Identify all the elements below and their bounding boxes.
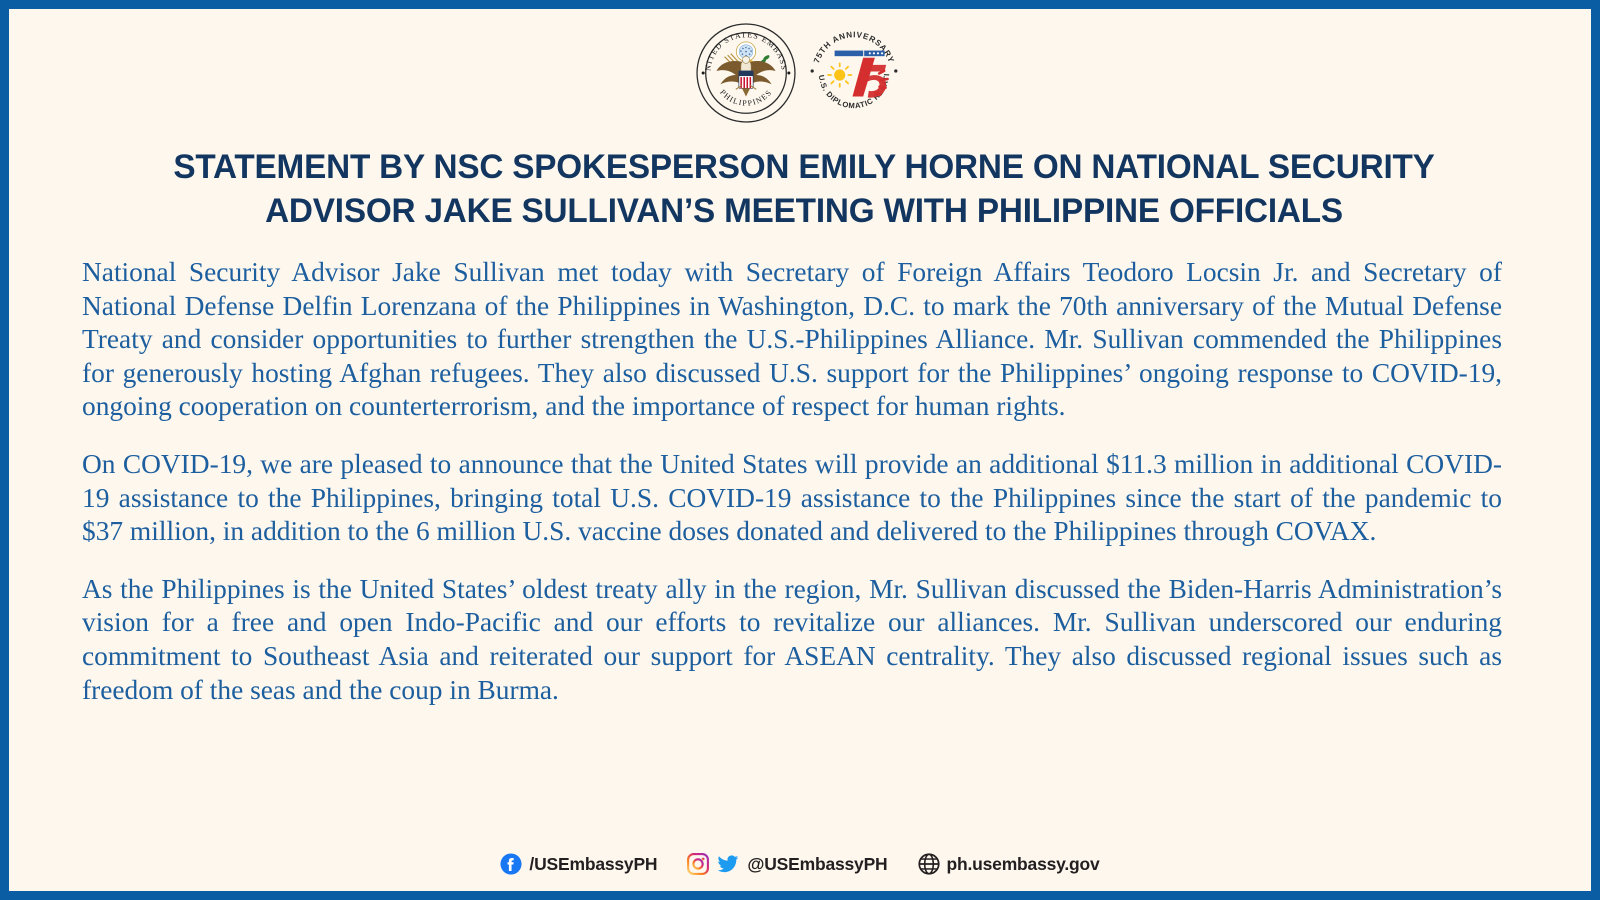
statement-body: National Security Advisor Jake Sullivan … [82,256,1502,707]
globe-icon[interactable] [918,853,940,875]
twitter-icon[interactable] [716,853,740,875]
footer-social-bar: /USEmbassyPH [9,853,1591,875]
statement-paragraph-1: National Security Advisor Jake Sullivan … [82,256,1502,424]
poster-canvas: UNITED STATES EMBASSY PHILIPPINES [9,9,1591,891]
instagram-icon[interactable] [687,853,709,875]
social-handles[interactable]: @USEmbassyPH [687,853,887,875]
page-title: STATEMENT BY NSC SPOKESPERSON EMILY HORN… [95,145,1514,233]
75th-anniversary-logo-icon: 75TH ANNIVERSARY PH - U.S. DIPLOMATIC RE… [803,22,905,129]
statement-paragraph-3: As the Philippines is the United States’… [82,573,1502,707]
statement-paragraph-2: On COVID-19, we are pleased to announce … [82,448,1502,549]
facebook-handle-label: /USEmbassyPH [529,854,657,875]
poster-border: UNITED STATES EMBASSY PHILIPPINES [0,0,1600,900]
website-label: ph.usembassy.gov [947,854,1100,875]
social-handle-label: @USEmbassyPH [747,854,887,875]
logo-row: UNITED STATES EMBASSY PHILIPPINES [9,23,1591,128]
facebook-handle[interactable]: /USEmbassyPH [500,853,657,875]
facebook-icon[interactable] [500,853,522,875]
website-link[interactable]: ph.usembassy.gov [918,853,1100,875]
us-embassy-philippines-seal-icon: UNITED STATES EMBASSY PHILIPPINES [695,22,797,129]
